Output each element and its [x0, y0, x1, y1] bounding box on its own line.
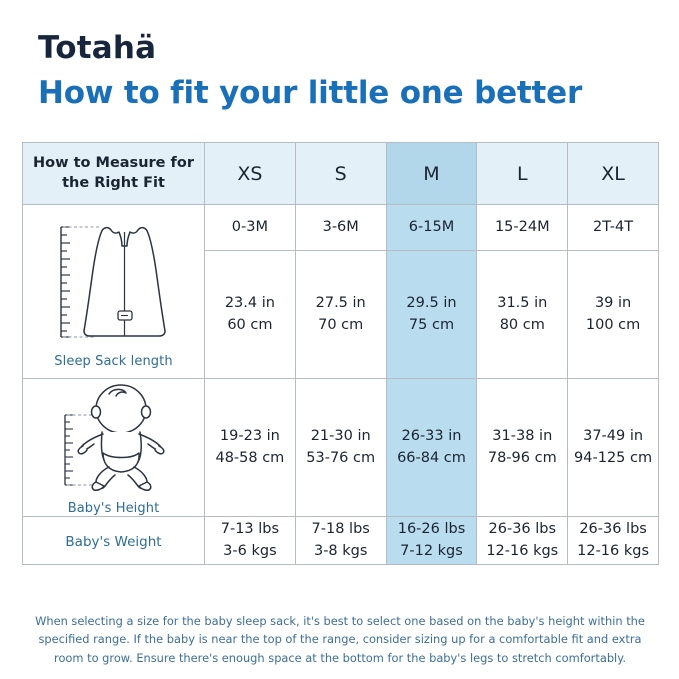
sleep-sack-icon: [39, 215, 189, 350]
weight-value-m: 16-26 lbs 7-12 kgs: [386, 517, 477, 565]
height-value-m: 26-33 in 66-84 cm: [386, 379, 477, 517]
weight-lbs-xs: 7-13 lbs: [205, 519, 295, 540]
length-in-xl: 39 in: [568, 293, 658, 314]
brand-name: Totahä: [38, 33, 156, 64]
weight-kgs-s: 3-8 kgs: [296, 541, 386, 562]
length-cm-l: 80 cm: [477, 315, 567, 336]
weight-value-xl: 26-36 lbs 12-16 kgs: [568, 517, 659, 565]
size-chart-table: How to Measure for the Right Fit XS S M …: [22, 142, 659, 565]
sleep-sack-caption: Sleep Sack length: [54, 354, 172, 369]
age-value-s: 3-6M: [295, 205, 386, 251]
weight-lbs-s: 7-18 lbs: [296, 519, 386, 540]
age-value-xs: 0-3M: [205, 205, 296, 251]
table-row-baby-height: Baby's Height 19-23 in 48-58 cm 21-30 in…: [23, 379, 659, 517]
weight-value-l: 26-36 lbs 12-16 kgs: [477, 517, 568, 565]
size-chart-page: Totahä How to fit your little one better…: [0, 0, 679, 679]
table-header-row: How to Measure for the Right Fit XS S M …: [23, 143, 659, 205]
height-cm-xs: 48-58 cm: [205, 448, 295, 469]
weight-value-xs: 7-13 lbs 3-6 kgs: [205, 517, 296, 565]
size-header-s: S: [295, 143, 386, 205]
length-in-l: 31.5 in: [477, 293, 567, 314]
height-cm-xl: 94-125 cm: [568, 448, 658, 469]
height-value-xs: 19-23 in 48-58 cm: [205, 379, 296, 517]
weight-value-s: 7-18 lbs 3-8 kgs: [295, 517, 386, 565]
size-chart-table-wrapper: How to Measure for the Right Fit XS S M …: [22, 142, 658, 565]
height-value-l: 31-38 in 78-96 cm: [477, 379, 568, 517]
length-value-l: 31.5 in 80 cm: [477, 251, 568, 379]
age-value-l: 15-24M: [477, 205, 568, 251]
length-value-xl: 39 in 100 cm: [568, 251, 659, 379]
weight-kgs-xs: 3-6 kgs: [205, 541, 295, 562]
height-in-xl: 37-49 in: [568, 426, 658, 447]
height-value-xl: 37-49 in 94-125 cm: [568, 379, 659, 517]
height-in-s: 21-30 in: [296, 426, 386, 447]
size-header-xl: XL: [568, 143, 659, 205]
height-in-xs: 19-23 in: [205, 426, 295, 447]
brand-logo: Totahä: [38, 26, 156, 70]
length-cm-m: 75 cm: [387, 315, 477, 336]
height-in-l: 31-38 in: [477, 426, 567, 447]
weight-kgs-l: 12-16 kgs: [477, 541, 567, 562]
height-cm-l: 78-96 cm: [477, 448, 567, 469]
baby-icon: [39, 379, 189, 497]
weight-lbs-xl: 26-36 lbs: [568, 519, 658, 540]
weight-lbs-m: 16-26 lbs: [387, 519, 477, 540]
height-value-s: 21-30 in 53-76 cm: [295, 379, 386, 517]
length-value-s: 27.5 in 70 cm: [295, 251, 386, 379]
height-cm-s: 53-76 cm: [296, 448, 386, 469]
length-in-xs: 23.4 in: [205, 293, 295, 314]
weight-row-label-cell: Baby's Weight: [23, 517, 205, 565]
sleep-sack-illustration-cell: Sleep Sack length: [23, 205, 205, 379]
size-header-l: L: [477, 143, 568, 205]
weight-kgs-m: 7-12 kgs: [387, 541, 477, 562]
size-header-xs: XS: [205, 143, 296, 205]
height-cm-m: 66-84 cm: [387, 448, 477, 469]
baby-illustration-cell: Baby's Height: [23, 379, 205, 517]
height-in-m: 26-33 in: [387, 426, 477, 447]
page-title: How to fit your little one better: [38, 76, 582, 110]
length-value-xs: 23.4 in 60 cm: [205, 251, 296, 379]
baby-height-caption: Baby's Height: [68, 501, 160, 516]
weight-kgs-xl: 12-16 kgs: [568, 541, 658, 562]
length-value-m: 29.5 in 75 cm: [386, 251, 477, 379]
table-row-age: Sleep Sack length 0-3M 3-6M 6-15M 15-24M…: [23, 205, 659, 251]
weight-lbs-l: 26-36 lbs: [477, 519, 567, 540]
length-in-m: 29.5 in: [387, 293, 477, 314]
baby-weight-label: Baby's Weight: [65, 534, 161, 550]
length-cm-xs: 60 cm: [205, 315, 295, 336]
age-value-xl: 2T-4T: [568, 205, 659, 251]
age-value-m: 6-15M: [386, 205, 477, 251]
corner-header-label: How to Measure for the Right Fit: [23, 143, 205, 205]
sizing-note: When selecting a size for the baby sleep…: [24, 612, 656, 667]
table-row-baby-weight: Baby's Weight 7-13 lbs 3-6 kgs 7-18 lbs …: [23, 517, 659, 565]
length-in-s: 27.5 in: [296, 293, 386, 314]
length-cm-xl: 100 cm: [568, 315, 658, 336]
size-header-m: M: [386, 143, 477, 205]
length-cm-s: 70 cm: [296, 315, 386, 336]
